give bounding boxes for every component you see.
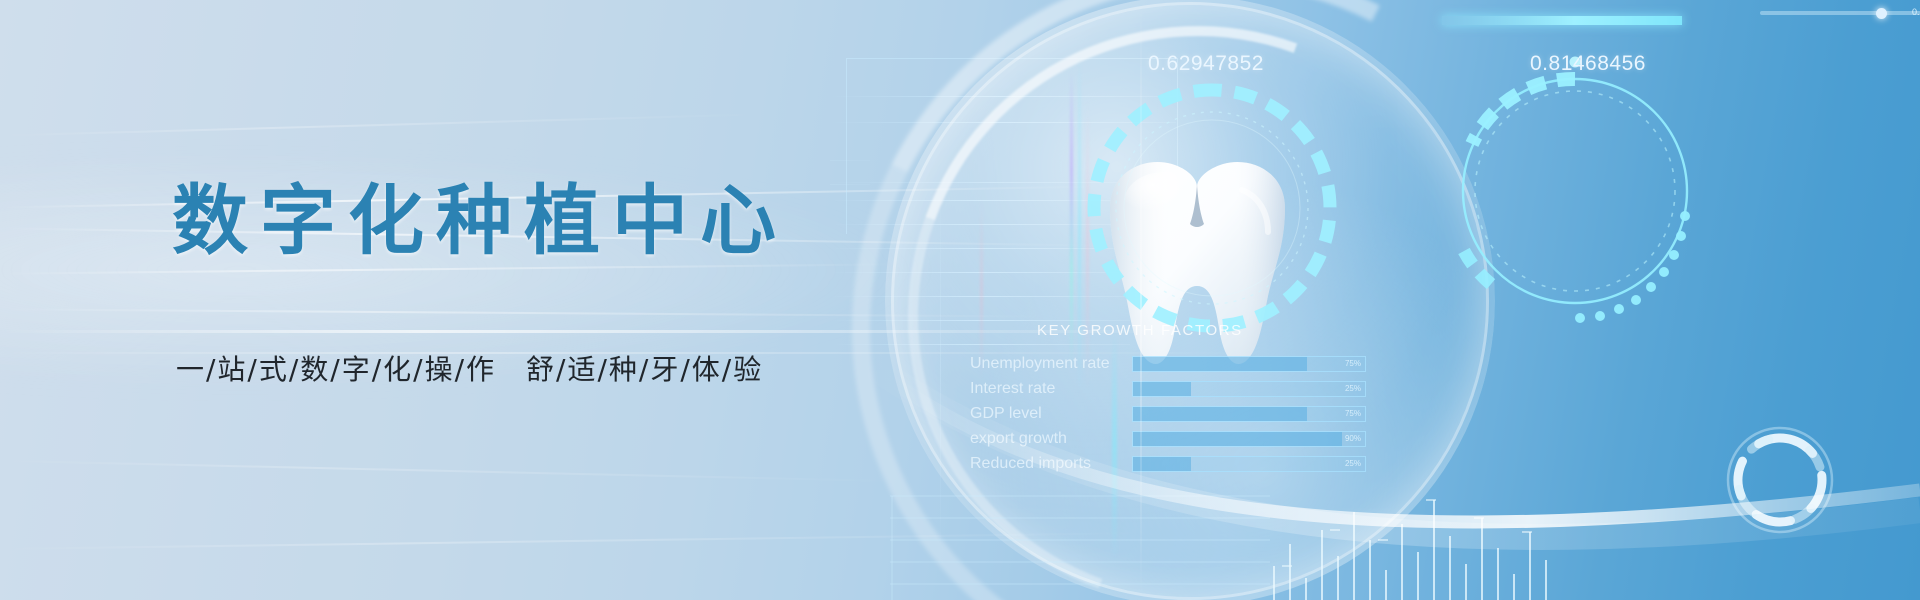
chart-value-label: 75% <box>1345 407 1361 421</box>
page-title: 数字化种植中心 <box>172 178 788 263</box>
tech-illustration: 0.62947852 0.81468456 0.71643 KEY GROWTH… <box>830 0 1920 600</box>
hud-slider[interactable]: 0.71643 <box>1760 8 1920 18</box>
table-row: export growth 90% <box>970 429 1390 448</box>
dotted-circle-gauge-icon <box>1430 46 1720 336</box>
chart-bar-track: 90% <box>1132 431 1366 447</box>
chart-category-label: Reduced imports <box>970 455 1132 473</box>
page-subtitle: 一/站/式/数/字/化/操/作 舒/适/种/牙/体/验 <box>176 348 763 388</box>
chart-bar-track: 75% <box>1132 356 1366 372</box>
table-row: Interest rate 25% <box>970 379 1390 398</box>
cyan-accent-bar <box>1442 16 1682 25</box>
slider-knob[interactable] <box>1876 8 1887 19</box>
chart-category-label: Unemployment rate <box>970 355 1132 373</box>
chart-category-label: GDP level <box>970 405 1132 423</box>
chart-bar-fill <box>1133 432 1342 446</box>
chart-bar-fill <box>1133 357 1307 371</box>
table-row: Unemployment rate 75% <box>970 354 1390 373</box>
slider-value: 0.71643 <box>1912 7 1920 17</box>
bottom-bar-chart <box>1260 470 1560 600</box>
schematic-line-c1 <box>830 160 870 161</box>
dashed-arc-gauge-icon <box>1062 58 1362 358</box>
chart-value-label: 25% <box>1345 457 1361 471</box>
hero-banner: 数字化种植中心 一/站/式/数/字/化/操/作 舒/适/种/牙/体/验 <box>0 0 1920 600</box>
chart-value-label: 90% <box>1345 432 1361 446</box>
slider-track[interactable] <box>1760 11 1920 15</box>
chart-value-label: 75% <box>1345 357 1361 371</box>
chart-category-label: export growth <box>970 430 1132 448</box>
chart-value-label: 25% <box>1345 382 1361 396</box>
table-row: GDP level 75% <box>970 404 1390 423</box>
readout-right: 0.81468456 <box>1530 52 1646 76</box>
bottom-schematic-frame <box>890 492 1270 600</box>
vertical-divider <box>1140 0 1142 600</box>
streak-3 <box>0 263 900 274</box>
chart-bar-track: 25% <box>1132 381 1366 397</box>
streak-7 <box>0 113 760 136</box>
segmented-ring-gauge-icon <box>1715 415 1845 545</box>
chart-bar-fill <box>1133 407 1307 421</box>
streak-8 <box>0 460 900 482</box>
chart-rows: Unemployment rate 75% Interest rate 25% … <box>970 354 1390 479</box>
chart-category-label: Interest rate <box>970 380 1132 398</box>
readout-left: 0.62947852 <box>1148 52 1264 76</box>
chart-bar-track: 75% <box>1132 406 1366 422</box>
schematic-line-c2 <box>830 184 870 185</box>
chroma-streak-5 <box>980 200 983 380</box>
